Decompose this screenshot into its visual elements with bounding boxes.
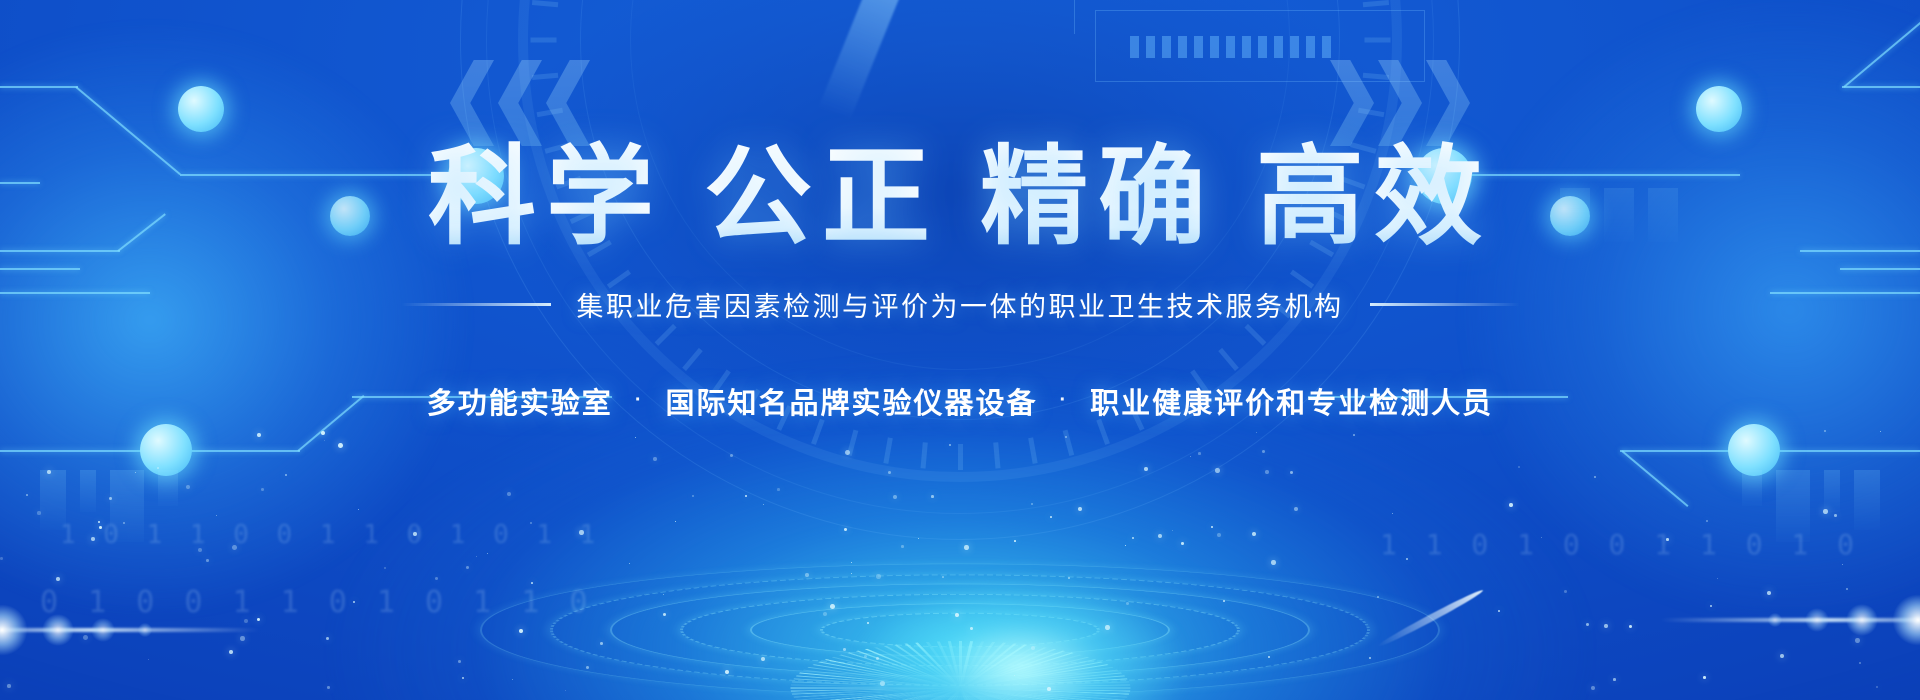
- tagline-item-2: 国际知名品牌实验仪器设备: [665, 380, 1037, 422]
- headline-word-4: 高效: [1256, 135, 1492, 260]
- tagline-item-1: 多功能实验室: [427, 380, 613, 422]
- subtitle-rule-left: [401, 303, 551, 306]
- tagline-separator-2: ·: [1060, 389, 1069, 412]
- subtitle: 集职业危害因素检测与评价为一体的职业卫生技术服务机构: [577, 285, 1344, 324]
- headline: 科学公正精确高效: [428, 138, 1492, 259]
- tagline-item-3: 职业健康评价和专业检测人员: [1090, 380, 1493, 422]
- headline-word-2: 公正: [704, 135, 940, 260]
- headline-word-3: 精确: [980, 135, 1216, 260]
- hero-banner: 1 0 1 1 0 0 1 1 0 1 0 1 1 0 1 0 0 1 1 0 …: [0, 0, 1920, 700]
- tagline-separator-1: ·: [635, 389, 644, 412]
- tagline-row: 多功能实验室 · 国际知名品牌实验仪器设备 · 职业健康评价和专业检测人员: [427, 380, 1493, 422]
- subtitle-rule-right: [1370, 303, 1520, 306]
- headline-word-1: 科学: [428, 135, 664, 260]
- subtitle-row: 集职业危害因素检测与评价为一体的职业卫生技术服务机构: [401, 285, 1520, 324]
- banner-content: 科学公正精确高效 集职业危害因素检测与评价为一体的职业卫生技术服务机构 多功能实…: [0, 0, 1920, 700]
